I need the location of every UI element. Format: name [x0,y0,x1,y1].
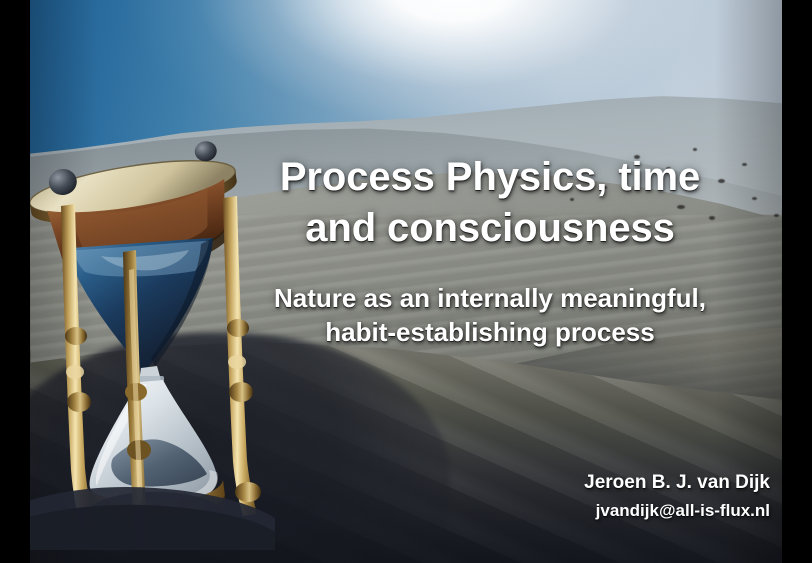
letterbox-bar-left [0,0,30,563]
subtitle-line-2: habit-establishing process [200,315,780,349]
title-slide: Process Physics, time and consciousness … [0,0,812,563]
author-name: Jeroen B. J. van Dijk [584,470,770,495]
letterbox-bar-right [782,0,812,563]
title-line-1: Process Physics, time [200,152,780,203]
author-email: jvandijk@all-is-flux.nl [596,499,770,522]
page-subtitle: Nature as an internally meaningful, habi… [200,281,780,349]
title-line-2: and consciousness [200,203,780,254]
page-title: Process Physics, time and consciousness [200,152,780,254]
subtitle-line-1: Nature as an internally meaningful, [200,281,780,315]
